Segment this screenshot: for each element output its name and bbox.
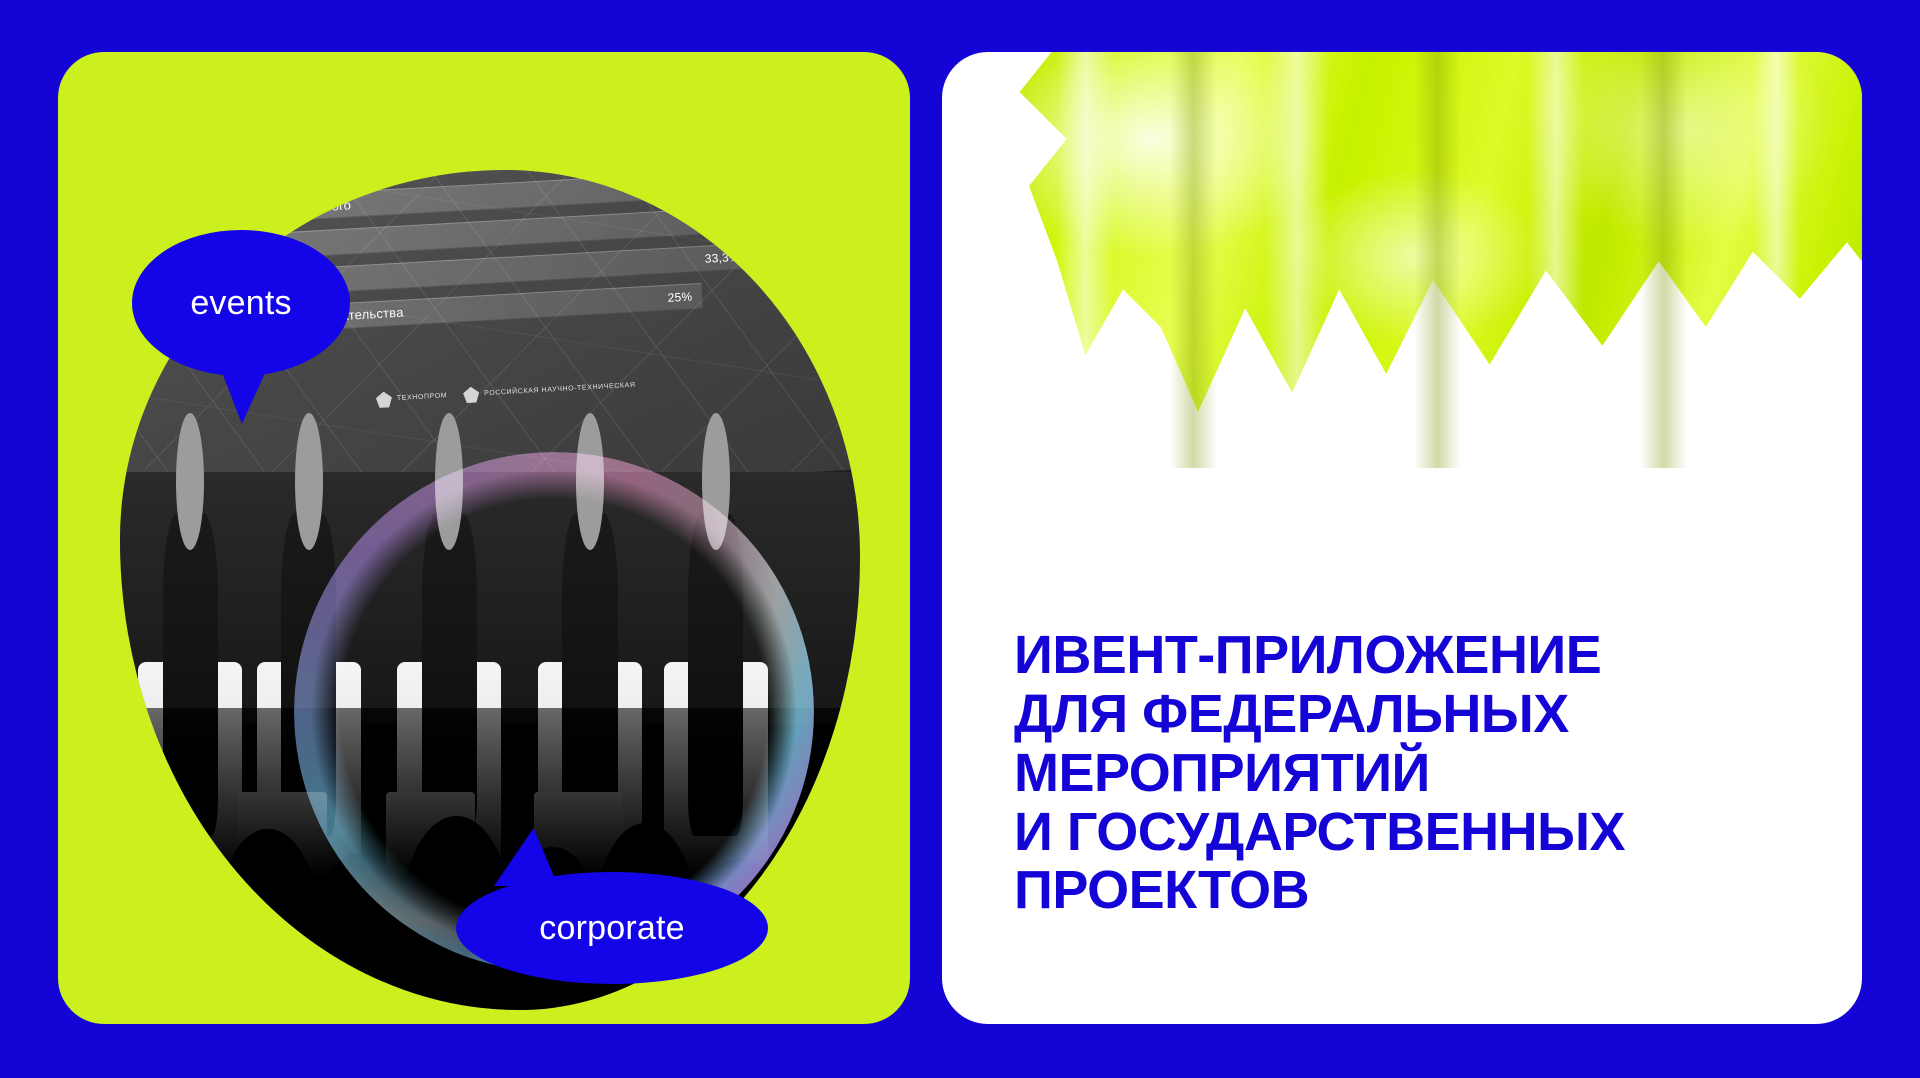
audience-head — [312, 853, 408, 1010]
panelist-head — [295, 413, 323, 550]
title-card: ИВЕНТ-ПРИЛОЖЕНИЕ ДЛЯ ФЕДЕРАЛЬНЫХ МЕРОПРИ… — [942, 52, 1862, 1024]
panelist-head — [702, 413, 730, 550]
slide-row-value: 25% — [668, 290, 693, 305]
drape-shape — [982, 52, 1862, 468]
audience-head — [135, 871, 224, 1010]
headline-line: И ГОСУДАРСТВЕННЫХ — [1014, 803, 1804, 862]
panelist-head — [435, 413, 463, 550]
screen-side-label: ROM — [120, 386, 135, 397]
panelist-head — [576, 413, 604, 550]
bubble-corporate[interactable]: corporate — [456, 872, 768, 984]
slide-row-label: и развитие квалифицированного — [147, 197, 352, 223]
slide-row-value: 33,3% — [705, 250, 741, 266]
page-title: ИВЕНТ-ПРИЛОЖЕНИЕ ДЛЯ ФЕДЕРАЛЬНЫХ МЕРОПРИ… — [1014, 626, 1804, 920]
bubble-events-label: events — [190, 284, 291, 323]
slide-row-value: 50% — [763, 210, 788, 225]
bubble-corporate-label: corporate — [539, 909, 684, 948]
headline-line: МЕРОПРИЯТИЙ — [1014, 744, 1804, 803]
audience-head — [216, 829, 320, 1010]
bubble-events[interactable]: events — [132, 230, 350, 376]
audience-head — [771, 835, 860, 1010]
headline-line: ИВЕНТ-ПРИЛОЖЕНИЕ — [1014, 626, 1804, 685]
slide-row-value: 75% — [810, 171, 835, 186]
slide-canvas: и развитие квалифицированного 75% 50% те… — [0, 0, 1920, 1078]
slide-row: и развитие квалифицированного 75% — [133, 170, 846, 230]
lime-drape-graphic — [982, 52, 1862, 468]
audience-silhouettes — [120, 708, 860, 1010]
headline-line: ПРОЕКТОВ — [1014, 861, 1804, 920]
panelist-head — [176, 413, 204, 550]
headline-line: ДЛЯ ФЕДЕРАЛЬНЫХ — [1014, 685, 1804, 744]
leaf-icon — [376, 391, 393, 408]
photo-card: и развитие квалифицированного 75% 50% те… — [58, 52, 910, 1024]
